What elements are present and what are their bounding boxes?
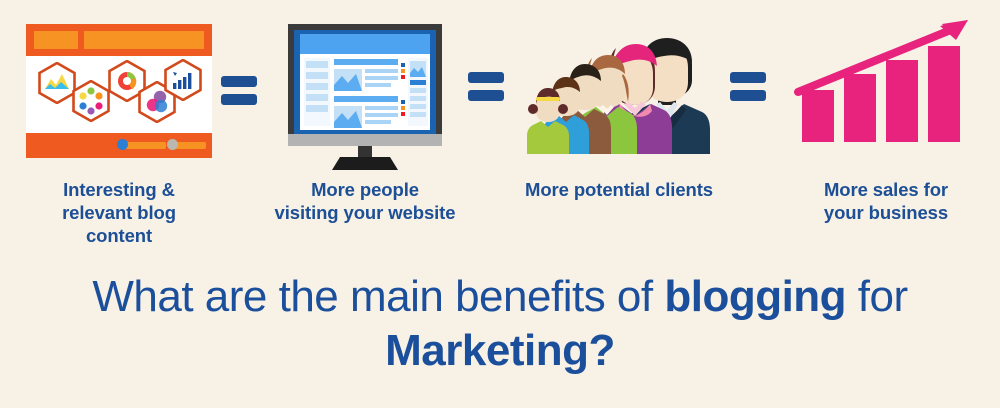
panel-tab-wide: [84, 31, 204, 49]
equals-sign-icon: [730, 72, 766, 102]
team-circle-hex-icon: [72, 80, 110, 122]
equals-sign-icon: [468, 72, 504, 102]
label-line: content: [86, 225, 152, 246]
label-line: relevant blog: [62, 202, 176, 223]
headline-line1-part2: for: [846, 272, 908, 321]
label-line: More people: [311, 179, 419, 200]
headline-line1-part1: What are the main benefits of: [92, 272, 664, 321]
infographic-canvas: Interesting & relevant blog content: [0, 0, 1000, 408]
step-label-website-visitors: More people visiting your website: [262, 178, 468, 224]
page-title: What are the main benefits of blogging f…: [0, 270, 1000, 378]
panel-content-area: [26, 56, 212, 133]
panel-tab-small: [34, 31, 78, 49]
progress-track-1: [124, 142, 166, 149]
mountain-chart-hex-icon: [38, 62, 76, 104]
progress-track-2: [174, 142, 206, 149]
group-of-people-icon: [524, 16, 704, 166]
equals-sign-icon: [221, 76, 257, 106]
label-line: Interesting &: [63, 179, 175, 200]
label-line: More sales for: [824, 179, 948, 200]
step-label-blog-content: Interesting & relevant blog content: [18, 178, 220, 247]
blog-panel: [26, 24, 212, 158]
growth-bar-chart-arrow-icon: [790, 14, 980, 164]
progress-knob-1: [117, 139, 128, 150]
headline-line2: Marketing?: [0, 324, 1000, 378]
progress-knob-2: [167, 139, 178, 150]
headline-keyword-blogging: blogging: [664, 272, 846, 321]
step-label-more-sales: More sales for your business: [796, 178, 976, 224]
label-line: your business: [824, 202, 948, 223]
panel-footer-bar: [26, 133, 212, 158]
label-line: visiting your website: [275, 202, 456, 223]
desktop-monitor-website-icon: [280, 22, 450, 172]
step-label-potential-clients: More potential clients: [508, 178, 730, 201]
panel-header-bar: [26, 24, 212, 56]
label-line: More potential clients: [525, 179, 713, 200]
bar-chart-hex-icon: [164, 59, 202, 101]
steps-row: Interesting & relevant blog content: [0, 0, 1000, 260]
